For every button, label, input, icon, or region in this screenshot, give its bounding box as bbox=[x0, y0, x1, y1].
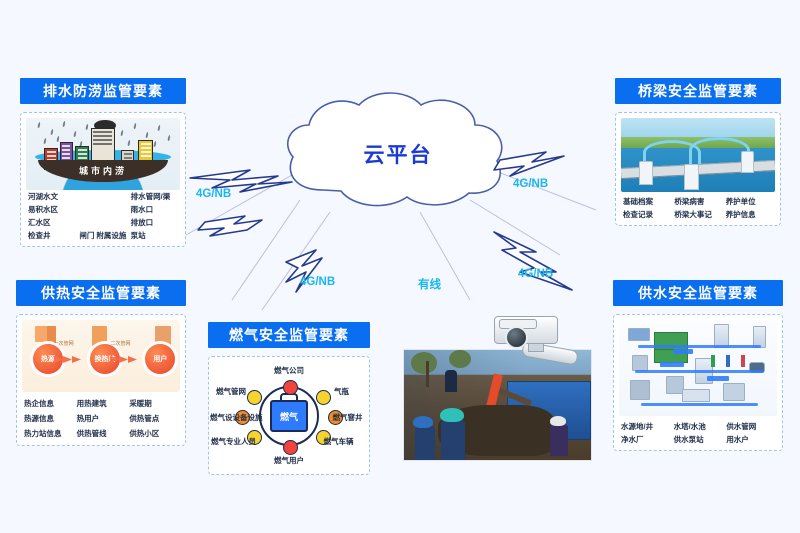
tag: 检查井 bbox=[26, 229, 77, 242]
gas-node-label-company: 燃气公司 bbox=[274, 365, 304, 376]
bridge-pylon bbox=[741, 151, 754, 173]
tag: 净水厂 bbox=[619, 433, 672, 446]
panel-gas: 燃气安全监管要素 燃气 燃气公司 气瓶 燃气窨井 燃气车辆 燃气用户 燃气专业人 bbox=[208, 322, 370, 475]
tag: 热企信息 bbox=[22, 396, 75, 411]
flood-basin: 城市内涝 bbox=[38, 160, 167, 182]
tag: 供水管网 bbox=[724, 420, 777, 433]
tag: 汇水区 bbox=[26, 216, 77, 229]
gas-node-label-cylinder: 气瓶 bbox=[334, 386, 349, 397]
panel-bridge-title: 桥梁安全监管要素 bbox=[615, 78, 781, 104]
tag: 雨水口 bbox=[129, 203, 180, 216]
tag: 排水管网/渠 bbox=[129, 190, 180, 203]
pump-icon bbox=[632, 355, 648, 371]
helmet-icon bbox=[413, 416, 433, 428]
bridge-photo bbox=[621, 118, 775, 192]
factory-icon bbox=[723, 383, 745, 401]
panel-bridge-body: 基础档案 桥梁病害 养护单位 检查记录 桥梁大事记 养护信息 bbox=[615, 112, 781, 226]
tag: 水源地/井 bbox=[619, 420, 672, 433]
tag: 水塔/水池 bbox=[672, 420, 725, 433]
person-icon bbox=[711, 355, 715, 367]
pipe-tag bbox=[673, 349, 693, 354]
person-icon bbox=[726, 355, 730, 367]
water-supply-illustration bbox=[619, 320, 777, 416]
panel-water-body: 水源地/井 水塔/水池 供水管网 净水厂 供水泵站 用水户 bbox=[613, 314, 783, 451]
reservoir-icon bbox=[628, 328, 650, 341]
link-label-water: 4G/NB bbox=[518, 268, 553, 280]
gas-node-label-pipeline: 燃气管网 bbox=[216, 386, 246, 397]
tag: 供热小区 bbox=[127, 426, 180, 441]
gas-node-label-facility: 燃气设设备设施 bbox=[210, 412, 263, 423]
panel-drainage: 排水防涝监管要素 城市内涝 bbox=[20, 78, 186, 247]
link-label-bridge: 4G/NB bbox=[513, 178, 548, 190]
tag: 泵站 bbox=[129, 229, 180, 242]
tag: 热用户 bbox=[75, 411, 128, 426]
station-icon bbox=[92, 326, 107, 346]
worker-figure bbox=[550, 424, 568, 456]
tag: 排放口 bbox=[129, 216, 180, 229]
tag: 基础档案 bbox=[621, 195, 672, 208]
pipe-line bbox=[641, 403, 758, 406]
panel-drainage-body: 城市内涝 河湖水文 排水管网/渠 易积水区 雨水口 汇水区 排放口 检查井 闸门… bbox=[20, 112, 186, 247]
illustration-caption: 城市内涝 bbox=[38, 164, 167, 177]
tag: 采暖期 bbox=[127, 396, 180, 411]
gas-node-label-personnel: 燃气专业人员 bbox=[211, 436, 256, 447]
tag: 供热管线 bbox=[75, 426, 128, 441]
camera-lens bbox=[505, 326, 528, 349]
tag: 用水户 bbox=[724, 433, 777, 446]
tag: 闸门 附属设施 bbox=[77, 229, 128, 242]
worker-figure bbox=[441, 420, 465, 460]
gas-node-label-manhole: 燃气窨井 bbox=[333, 412, 363, 423]
water-tank-icon bbox=[682, 389, 710, 402]
panel-heating-title: 供热安全监管要素 bbox=[16, 280, 186, 306]
tree-icon bbox=[449, 350, 471, 368]
heating-flow-illustration: 热源 换热站 用户 一次管网 二次管网 bbox=[22, 320, 180, 392]
tag: 供水泵站 bbox=[672, 433, 725, 446]
cctv-camera-icon bbox=[486, 310, 578, 368]
helmet-icon bbox=[440, 408, 464, 422]
tag: 易积水区 bbox=[26, 203, 77, 216]
panel-gas-title: 燃气安全监管要素 bbox=[208, 322, 370, 348]
panel-gas-body: 燃气 燃气公司 气瓶 燃气窨井 燃气车辆 燃气用户 燃气专业人员 燃气设设备设施… bbox=[208, 356, 370, 475]
tag: 养护单位 bbox=[724, 195, 775, 208]
diagram-canvas: 云平台 4G/NB 4G/NB 有线 4G/NB 4G/NB 排水防涝监管要素 bbox=[0, 0, 800, 533]
worker-figure bbox=[445, 370, 457, 392]
panel-water: 供水安全监管要素 bbox=[613, 280, 783, 451]
link-label-gas: 4G/NB bbox=[300, 276, 335, 288]
panel-heating: 供热安全监管要素 热源 换热站 用户 一次管网 二次管网 热企信 bbox=[16, 280, 186, 446]
panel-bridge: 桥梁安全监管要素 基础档案 桥梁病害 养护单位 检查记录 桥梁大事记 养护信息 bbox=[615, 78, 781, 226]
water-tag-list: 水源地/井 水塔/水池 供水管网 净水厂 供水泵站 用水户 bbox=[619, 416, 777, 446]
tag: 热源信息 bbox=[22, 411, 75, 426]
heat-node-user: 用户 bbox=[145, 344, 175, 374]
flow-label-primary: 一次管网 bbox=[54, 340, 74, 347]
pump-station-icon bbox=[630, 380, 650, 400]
pipe-tag bbox=[707, 376, 729, 381]
pipe-tag bbox=[660, 362, 684, 367]
tag bbox=[77, 203, 128, 216]
gas-hub-label: 燃气 bbox=[270, 400, 308, 432]
gas-hub-diagram: 燃气 燃气公司 气瓶 燃气窨井 燃气车辆 燃气用户 燃气专业人员 燃气设设备设施… bbox=[214, 362, 364, 470]
tree-icon bbox=[411, 352, 437, 374]
tag: 供热管点 bbox=[127, 411, 180, 426]
tag: 桥梁病害 bbox=[672, 195, 723, 208]
gas-node-dot bbox=[247, 390, 262, 405]
cloud-label: 云平台 bbox=[283, 139, 513, 169]
tag: 桥梁大事记 bbox=[672, 208, 723, 221]
tree-trunk bbox=[426, 361, 429, 387]
drainage-illustration: 城市内涝 bbox=[26, 118, 180, 190]
drainage-tag-list: 河湖水文 排水管网/渠 易积水区 雨水口 汇水区 排放口 检查井 闸门 附属设施… bbox=[26, 190, 180, 242]
gas-node-dot bbox=[283, 380, 298, 395]
panel-heating-body: 热源 换热站 用户 一次管网 二次管网 热企信息 用热建筑 采暖期 热源信息 热… bbox=[16, 314, 186, 446]
worker-figure bbox=[415, 426, 435, 460]
panel-water-title: 供水安全监管要素 bbox=[613, 280, 783, 306]
panel-drainage-title: 排水防涝监管要素 bbox=[20, 78, 186, 104]
flow-label-secondary: 二次管网 bbox=[110, 340, 130, 347]
gas-node-label-vehicle: 燃气车辆 bbox=[324, 436, 354, 447]
tag: 检查记录 bbox=[621, 208, 672, 221]
heating-tag-list: 热企信息 用热建筑 采暖期 热源信息 热用户 供热管点 热力站信息 供热管线 供… bbox=[22, 392, 180, 441]
tag: 养护信息 bbox=[724, 208, 775, 221]
pipe-line bbox=[635, 370, 765, 373]
gas-node-dot bbox=[316, 390, 331, 405]
pipe-line bbox=[638, 345, 761, 348]
tag bbox=[77, 190, 128, 203]
tag: 河湖水文 bbox=[26, 190, 77, 203]
tag bbox=[77, 216, 128, 229]
bridge-pylon bbox=[639, 161, 653, 185]
tag: 用热建筑 bbox=[75, 396, 128, 411]
person-icon bbox=[741, 355, 745, 367]
flow-arrow-icon bbox=[110, 354, 138, 365]
helmet-icon bbox=[550, 416, 566, 426]
gas-node-dot bbox=[283, 440, 298, 455]
bridge-pylon bbox=[684, 164, 699, 190]
link-label-drainage: 4G/NB bbox=[196, 188, 231, 200]
bridge-tag-list: 基础档案 桥梁病害 养护单位 检查记录 桥梁大事记 养护信息 bbox=[621, 192, 775, 221]
camera-body bbox=[494, 316, 558, 344]
cloud-platform: 云平台 bbox=[283, 95, 513, 215]
flow-arrow-icon bbox=[54, 354, 82, 365]
tag: 热力站信息 bbox=[22, 426, 75, 441]
gas-node-label-user: 燃气用户 bbox=[274, 455, 304, 466]
link-label-site: 有线 bbox=[418, 276, 441, 292]
